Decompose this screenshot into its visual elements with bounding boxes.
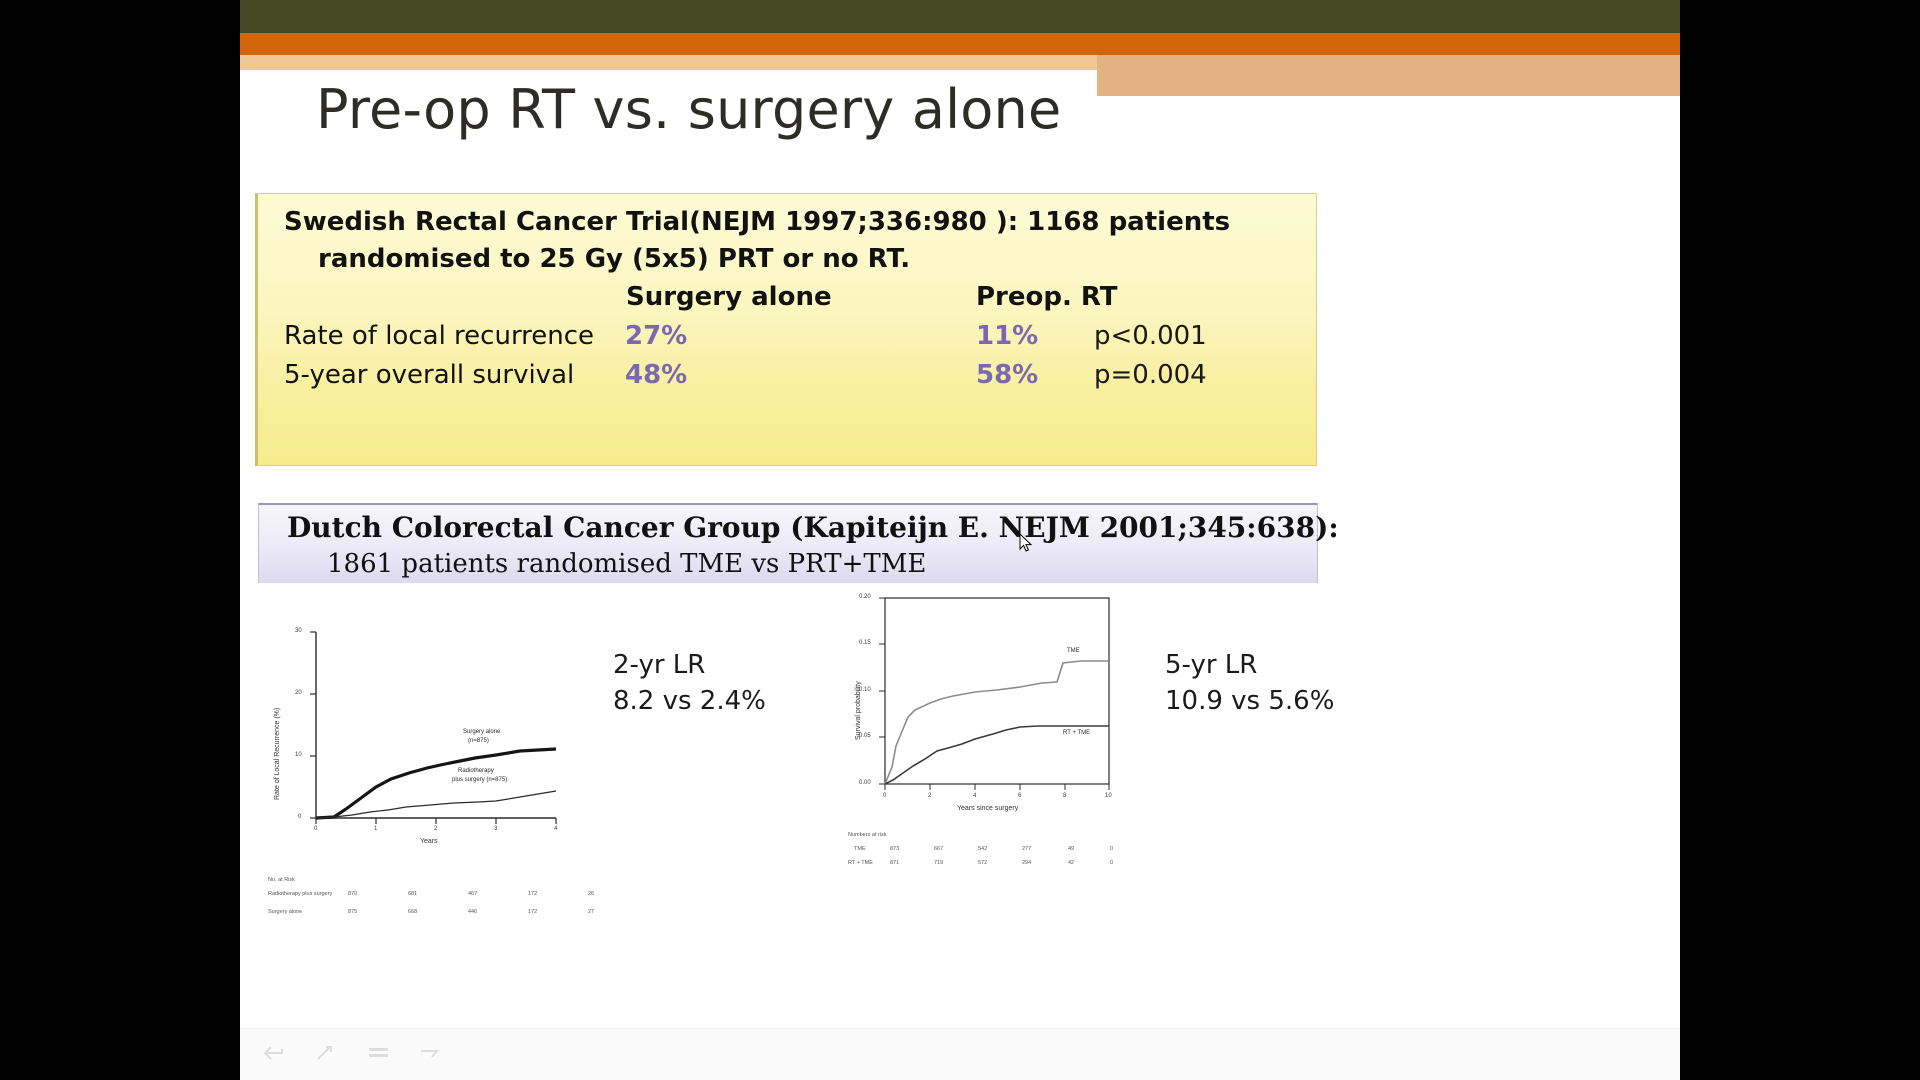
risk-right-r0-v2: 542 <box>978 846 987 852</box>
chart-right-xtick-1: 2 <box>928 793 931 799</box>
reply-icon[interactable] <box>262 1043 288 1065</box>
letterbox-left <box>0 0 240 1080</box>
banner-orange-band <box>240 33 1680 55</box>
column-header-preop-rt: Preop. RT <box>976 282 1118 312</box>
risk-right-r0-v3: 277 <box>1022 846 1031 852</box>
swedish-line-1: Swedish Rectal Cancer Trial(NEJM 1997;33… <box>284 207 1230 237</box>
banner-olive-band <box>240 0 1680 33</box>
risk-left-r1-v2: 446 <box>468 909 477 915</box>
risk-right-r0-v5: 0 <box>1110 846 1113 852</box>
risk-left-r1-v4: 27 <box>588 909 594 915</box>
chart-left-xlabel: Years <box>420 838 438 845</box>
risk-right-caption: Numbers at risk <box>848 832 887 838</box>
mouse-cursor <box>1019 533 1033 553</box>
forward-icon[interactable] <box>314 1043 340 1065</box>
dutch-line-2: 1861 patients randomised TME vs PRT+TME <box>327 549 926 579</box>
banner-tan-left <box>240 55 1097 70</box>
column-header-surgery-alone: Surgery alone <box>626 282 832 312</box>
chart-right-ytick-1: 0.05 <box>859 733 871 739</box>
annotation-right-line-1: 5-yr LR <box>1165 650 1257 680</box>
dutch-line-1: Dutch Colorectal Cancer Group (Kapiteijn… <box>287 511 1339 544</box>
chart-left-svg <box>258 590 588 870</box>
risk-left-r0-v2: 467 <box>468 891 477 897</box>
row-1-preop-rt-value: 58% <box>976 360 1038 390</box>
risk-right-row-0-label: TME <box>854 846 866 852</box>
chart-left-xtick-3: 3 <box>494 826 497 832</box>
risk-left-r0-v0: 870 <box>348 891 357 897</box>
risk-left-r1-v0: 875 <box>348 909 357 915</box>
risk-right-r1-v5: 0 <box>1110 860 1113 866</box>
row-label-local-recurrence: Rate of local recurrence <box>284 321 594 351</box>
chart-right-ytick-4: 0.20 <box>859 594 871 600</box>
risk-right-r1-v4: 42 <box>1068 860 1074 866</box>
chart-left-xtick-1: 1 <box>374 826 377 832</box>
chart-right-ytick-3: 0.15 <box>859 640 871 646</box>
swedish-trial-box: Swedish Rectal Cancer Trial(NEJM 1997;33… <box>255 193 1317 466</box>
dutch-trial-box: Dutch Colorectal Cancer Group (Kapiteijn… <box>258 503 1318 583</box>
chart-right-xtick-2: 4 <box>973 793 976 799</box>
chart-right-xtick-4: 8 <box>1063 793 1066 799</box>
chart-left-ytick-10: 10 <box>295 752 302 758</box>
risk-right-r0-v0: 873 <box>890 846 899 852</box>
chart-left-ytick-0: 0 <box>298 814 301 820</box>
row-1-surgery-alone-value: 48% <box>625 360 687 390</box>
chart-right-xtick-3: 6 <box>1018 793 1021 799</box>
chart-right-xtick-0: 0 <box>883 793 886 799</box>
row-0-pvalue: p<0.001 <box>1094 321 1207 351</box>
risk-right-row-1-label: RT + TME <box>848 860 873 866</box>
presentation-toolbar[interactable] <box>240 1028 1680 1080</box>
chart-left-ylabel: Rate of Local Recurrence (%) <box>274 708 281 800</box>
risk-left-caption: No. at Risk <box>268 877 295 883</box>
row-0-preop-rt-value: 11% <box>976 321 1038 351</box>
chart-right-svg <box>845 590 1125 815</box>
chart-left-series-1-label-1: Radiotherapy <box>458 768 494 776</box>
risk-left-row-0-label: Radiotherapy plus surgery <box>268 891 332 897</box>
row-1-pvalue: p=0.004 <box>1094 360 1207 390</box>
risk-left-r0-v4: 26 <box>588 891 594 897</box>
page-title: Pre-op RT vs. surgery alone <box>316 78 1516 141</box>
chart-right-series-1-label: RT + TME <box>1063 730 1090 738</box>
screen: Pre-op RT vs. surgery alone Swedish Rect… <box>0 0 1920 1080</box>
chart-left-series-1-label-2: plus surgery (n=875) <box>452 777 507 785</box>
chart-left-xtick-4: 4 <box>554 826 557 832</box>
list-icon[interactable] <box>366 1043 392 1065</box>
chart-left-series-0-label-1: Surgery alone <box>463 729 500 737</box>
chart-right-ytick-2: 0.10 <box>859 687 871 693</box>
chart-left-xtick-2: 2 <box>434 826 437 832</box>
risk-right-r0-v1: 667 <box>934 846 943 852</box>
chart-left-ytick-20: 20 <box>295 690 302 696</box>
chart-dutch-local-recurrence: Survival probability 0.00 0.05 0.10 0.15… <box>845 590 1125 815</box>
chart-swedish-local-recurrence: Rate of Local Recurrence (%) 0 10 20 30 … <box>258 590 588 870</box>
risk-right-r1-v3: 294 <box>1022 860 1031 866</box>
slide-canvas: Pre-op RT vs. surgery alone Swedish Rect… <box>240 0 1680 1080</box>
arrow-icon[interactable] <box>418 1043 444 1065</box>
annotation-left-line-2: 8.2 vs 2.4% <box>613 686 766 716</box>
chart-left-series-0-label-2: (n=875) <box>468 738 489 746</box>
annotation-right-line-2: 10.9 vs 5.6% <box>1165 686 1334 716</box>
row-0-surgery-alone-value: 27% <box>625 321 687 351</box>
risk-left-r1-v1: 668 <box>408 909 417 915</box>
risk-left-r1-v3: 172 <box>528 909 537 915</box>
annotation-left-line-1: 2-yr LR <box>613 650 705 680</box>
chart-right-xtick-5: 10 <box>1105 793 1112 799</box>
risk-right-r1-v1: 719 <box>934 860 943 866</box>
chart-left-xtick-0: 0 <box>314 826 317 832</box>
risk-right-r1-v0: 871 <box>890 860 899 866</box>
chart-left-ytick-30: 30 <box>295 628 302 634</box>
risk-left-r0-v1: 681 <box>408 891 417 897</box>
chart-right-ytick-0: 0.00 <box>859 780 871 786</box>
chart-right-series-0-label: TME <box>1067 648 1080 656</box>
letterbox-right <box>1680 0 1920 1080</box>
row-label-overall-survival: 5-year overall survival <box>284 360 574 390</box>
risk-right-r1-v2: 572 <box>978 860 987 866</box>
risk-right-r0-v4: 49 <box>1068 846 1074 852</box>
risk-left-r0-v3: 172 <box>528 891 537 897</box>
risk-left-row-1-label: Surgery alone <box>268 909 302 915</box>
chart-right-xlabel: Years since surgery <box>957 805 1018 812</box>
swedish-line-2: randomised to 25 Gy (5x5) PRT or no RT. <box>318 244 910 274</box>
